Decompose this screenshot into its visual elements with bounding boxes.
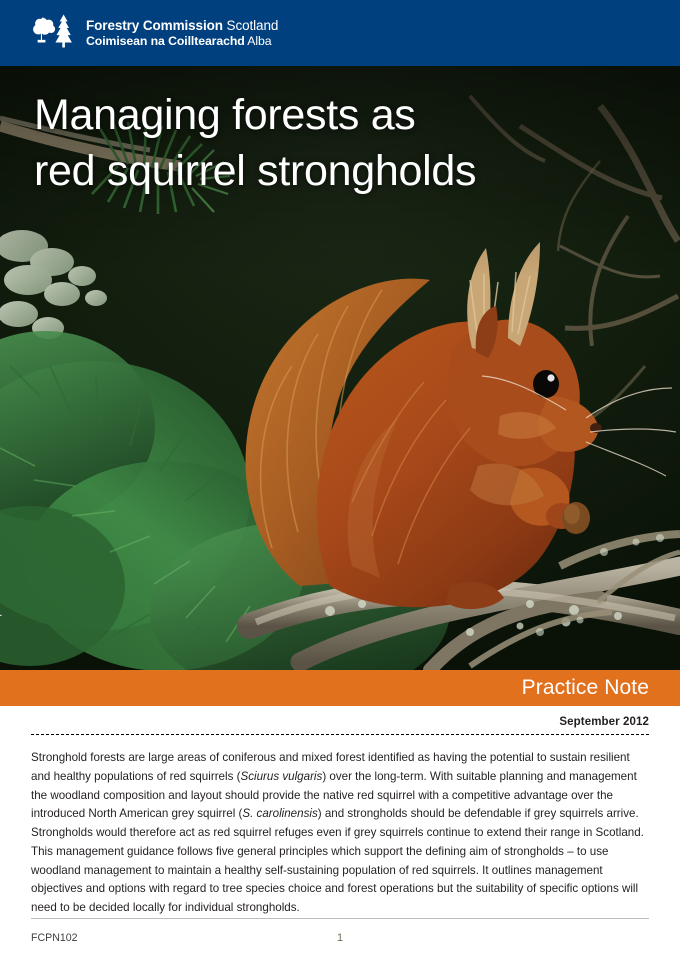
publication-date-row: September 2012 xyxy=(31,706,649,734)
cover-title-line-2: red squirrel strongholds xyxy=(34,144,640,200)
logo-org-gaelic-light: Alba xyxy=(245,34,272,48)
practice-note-banner: Practice Note xyxy=(0,670,680,706)
dashed-separator xyxy=(31,734,649,735)
photo-credit-container: © Laurie Campbell xyxy=(0,560,22,670)
logo-org-bold: Forestry Commission xyxy=(86,18,223,33)
practice-note-label: Practice Note xyxy=(522,676,649,700)
cover-title-line-1: Managing forests as xyxy=(34,88,640,144)
logo-line-english: Forestry Commission Scotland xyxy=(86,18,278,34)
footer-row: FCPN102 1 xyxy=(31,932,649,948)
cover-title: Managing forests as red squirrel strongh… xyxy=(34,88,640,200)
publication-date: September 2012 xyxy=(559,716,649,728)
forestry-commission-logo: Forestry Commission Scotland Coimisean n… xyxy=(32,13,278,53)
site-header: Forestry Commission Scotland Coimisean n… xyxy=(0,0,680,66)
page-number: 1 xyxy=(31,932,649,944)
logo-org-gaelic-bold: Coimisean na Coilltearachd xyxy=(86,34,245,48)
logo-wordmark: Forestry Commission Scotland Coimisean n… xyxy=(86,18,278,48)
footer-separator xyxy=(31,918,649,919)
cover-photo-region: Managing forests as red squirrel strongh… xyxy=(0,66,680,670)
photo-credit: © Laurie Campbell xyxy=(0,599,2,664)
logo-line-gaelic: Coimisean na Coilltearachd Alba xyxy=(86,34,278,49)
logo-org-light: Scotland xyxy=(223,18,278,33)
page-footer: FCPN102 1 xyxy=(31,918,649,948)
forestry-commission-trees-logo-icon xyxy=(32,13,76,53)
document-body: September 2012 Stronghold forests are la… xyxy=(0,706,680,918)
abstract-paragraph: Stronghold forests are large areas of co… xyxy=(31,749,649,918)
